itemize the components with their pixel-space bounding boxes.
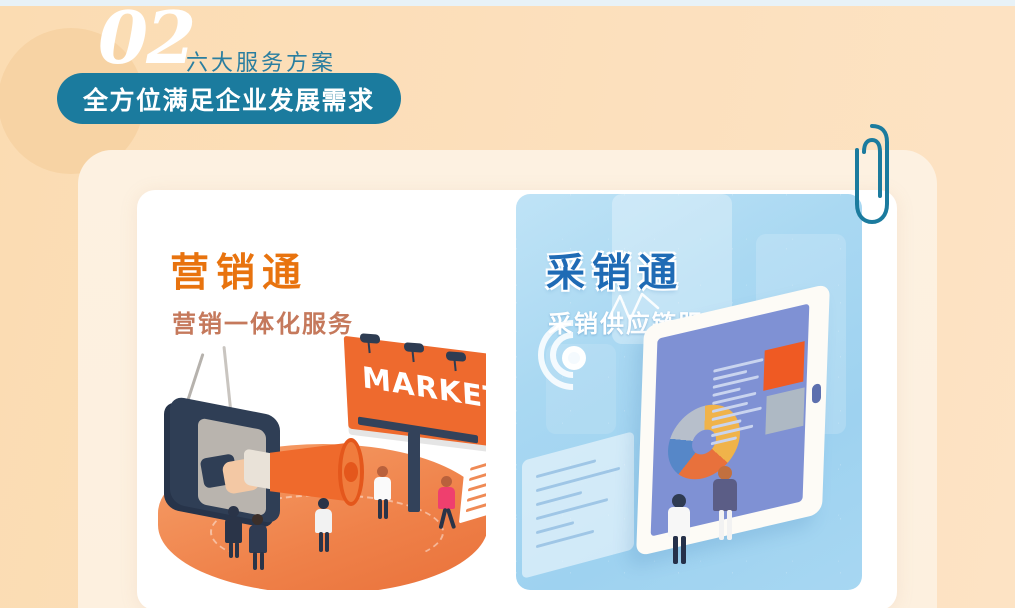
documents-icon [459, 443, 486, 524]
megaphone-inner [344, 462, 358, 482]
floating-text-card [522, 431, 634, 579]
supply-chain-isometric-illustration [516, 194, 862, 590]
sparkline-icon [608, 290, 660, 324]
section-number: 02 [98, 2, 194, 74]
tv-antenna-right [222, 346, 232, 414]
billboard-lamp-1 [360, 333, 381, 343]
paperclip-icon [852, 118, 892, 228]
marketing-isometric-illustration: MARKET [140, 194, 486, 590]
service-tile-yingxiaotong[interactable]: 营销通 营销一体化服务 MARKET [140, 194, 486, 590]
poster-stage: 02 六大服务方案 全方位满足企业发展需求 营销通 营销一体化服务 MARKET [0, 0, 1015, 608]
dashboard-text-lines [711, 358, 766, 451]
billboard-lamp-2 [404, 342, 425, 352]
header-badge: 全方位满足企业发展需求 [57, 73, 401, 124]
service-tile-caixiaotong[interactable]: 采销通 采销供应链服务 [516, 194, 862, 590]
billboard-lamp-3 [446, 351, 467, 361]
wifi-icon [538, 320, 608, 390]
header-badge-label: 全方位满足企业发展需求 [83, 81, 375, 117]
billboard-post [408, 432, 420, 512]
